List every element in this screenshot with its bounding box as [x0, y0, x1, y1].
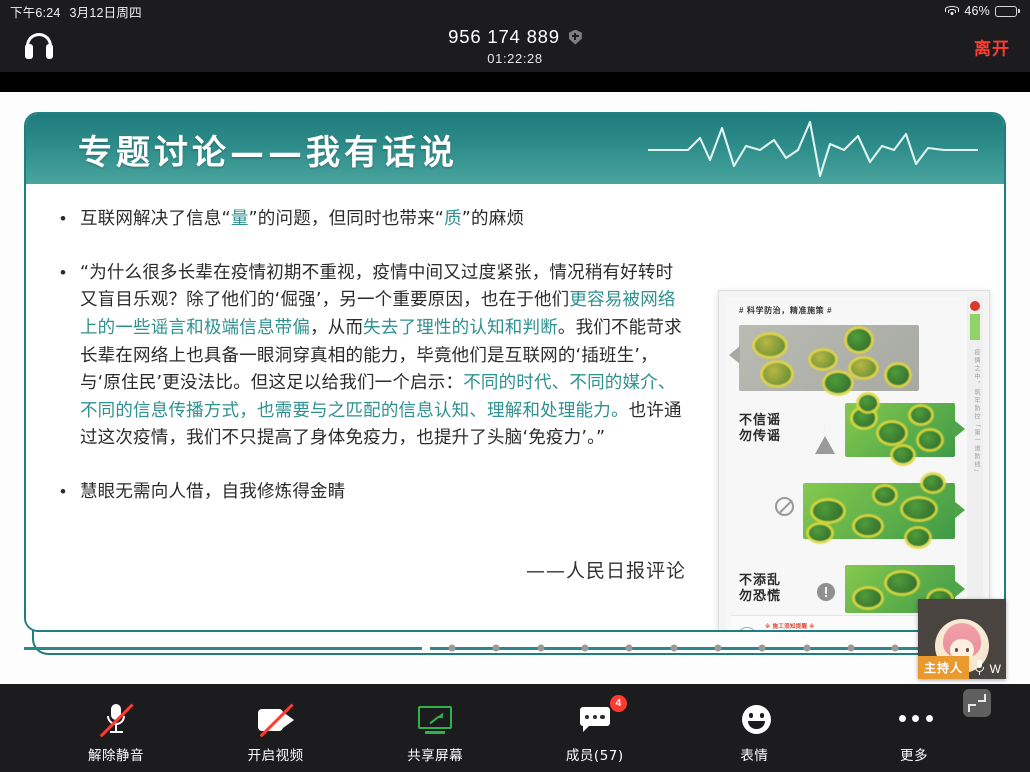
smiley-icon [731, 703, 777, 737]
poster-status-bar [970, 314, 980, 340]
poster-sidebar-text: 疫情之中，筑牢防控「第一道防线」 [969, 349, 981, 477]
status-time: 下午6:24 [10, 2, 61, 21]
slide-body: • 互联网解决了信息“量”的问题，但同时也带来“质”的麻烦 • “为什么很多长辈… [26, 184, 1006, 632]
status-bar-right: 46% [944, 4, 1020, 18]
participants-badge: 4 [610, 695, 627, 712]
text-segment-2: ，从而 [310, 318, 363, 338]
battery-percent-label: 46% [964, 4, 990, 18]
slide-progress-dot[interactable] [582, 645, 589, 652]
more-dots-icon [891, 703, 937, 737]
slide-progress-strip[interactable] [24, 640, 1006, 656]
poster-footer-title: ※ 施工须知提醒 ※ [765, 622, 815, 630]
reactions-button[interactable]: 表情 [694, 693, 814, 764]
poster-image: # 科学防治，精准施策 # 疫情之中，筑牢防控「第一道防线」 [718, 290, 990, 632]
status-bar-left: 下午6:24 3月12日周四 [10, 2, 142, 21]
meeting-id: 956 174 889 [448, 26, 560, 48]
share-screen-label: 共享屏幕 [407, 744, 463, 764]
slide-title-bar: 专题讨论——我有话说 [26, 114, 1006, 184]
slide-progress-dot[interactable] [847, 645, 854, 652]
poster-hashtag: # 科学防治，精准施策 # [739, 305, 832, 316]
host-badge: 主持人 [918, 656, 969, 679]
slide-frame: 专题讨论——我有话说 • 互联网解决了信息“量”的问题，但同时也带来“质”的麻烦… [24, 112, 1006, 632]
reactions-label: 表情 [740, 744, 768, 764]
share-screen-icon [412, 703, 458, 737]
slide-attribution: ——人民日报评论 [26, 556, 686, 583]
slide-bullets: • 互联网解决了信息“量”的问题，但同时也带来“质”的麻烦 • “为什么很多长辈… [60, 206, 690, 533]
wifi-icon [944, 5, 959, 17]
slide-progress-dot[interactable] [892, 645, 899, 652]
participants-label: 成员(57) [566, 744, 624, 764]
slide-title: 专题讨论——我有话说 [78, 125, 458, 174]
poster-alert-dot [970, 301, 980, 311]
camera-off-icon [253, 703, 299, 737]
self-video-thumbnail[interactable]: 主持人 W [918, 599, 1006, 679]
list-item: • 慧眼无需向人借，自我修炼得金睛 [60, 479, 690, 507]
bullet-text-2: “为什么很多长辈在疫情初期不重视，疫情中间又过度紧张，情况稍有好转时又盲目乐观？… [80, 260, 690, 453]
text-segment-1: 量 [231, 209, 249, 229]
poster-card-2 [845, 403, 955, 457]
battery-icon [995, 6, 1020, 17]
slide-progress-dot[interactable] [626, 645, 633, 652]
speaker-icon [737, 627, 757, 632]
slide-progress-lead [24, 647, 422, 650]
bullet-text-3: 慧眼无需向人借，自我修炼得金睛 [80, 479, 346, 507]
exclamation-circle-icon [817, 583, 835, 601]
text-segment-4: ”的麻烦 [462, 209, 524, 229]
status-bar: 下午6:24 3月12日周四 46% [0, 0, 1030, 22]
meeting-id-row[interactable]: 956 174 889 [448, 26, 582, 48]
poster-card-3 [803, 483, 955, 539]
poster-label-3: 不添乱 勿恐慌 [739, 573, 781, 606]
text-segment-0: 慧眼无需向人借，自我修炼得金睛 [80, 482, 346, 502]
unmute-button[interactable]: 解除静音 [56, 693, 176, 764]
start-video-label: 开启视频 [248, 744, 304, 764]
poster-label-1-line1: 不信谣 [739, 413, 781, 428]
text-segment-3: 质 [444, 209, 462, 229]
mic-muted-icon [93, 703, 139, 737]
list-item: • “为什么很多长辈在疫情初期不重视，疫情中间又过度紧张，情况稍有好转时又盲目乐… [60, 260, 690, 453]
meeting-header: 956 174 889 01:22:28 离开 [0, 22, 1030, 72]
participants-button[interactable]: 4 成员(57) [535, 693, 655, 764]
slide-progress-dot[interactable] [803, 645, 810, 652]
shield-icon[interactable] [569, 30, 582, 45]
prohibition-icon [775, 497, 794, 516]
bullet-marker: • [60, 206, 66, 234]
bullet-marker: • [60, 479, 66, 507]
bullet-marker: • [60, 260, 66, 453]
unmute-label: 解除静音 [88, 744, 144, 764]
participant-name: W [990, 662, 1001, 676]
status-date: 3月12日周四 [70, 2, 142, 21]
poster-label-1-line2: 勿传谣 [739, 429, 781, 444]
warning-triangle-icon [815, 419, 835, 437]
more-button[interactable]: 更多 [854, 693, 974, 764]
bottom-toolbar: 解除静音 开启视频 共享屏幕 [0, 684, 1030, 772]
meeting-info: 956 174 889 01:22:28 [0, 26, 1030, 66]
toolbar-items: 解除静音 开启视频 共享屏幕 [0, 693, 1030, 764]
bullet-text-1: 互联网解决了信息“量”的问题，但同时也带来“质”的麻烦 [80, 206, 524, 234]
text-segment-3: 失去了理性的认知和判断 [363, 318, 558, 338]
slide-progress-dot[interactable] [715, 645, 722, 652]
slide-progress-dot[interactable] [759, 645, 766, 652]
start-video-button[interactable]: 开启视频 [216, 693, 336, 764]
poster-label-3-line2: 勿恐慌 [739, 589, 781, 604]
meeting-timer: 01:22:28 [0, 51, 1030, 66]
more-label: 更多 [900, 744, 928, 764]
slide-progress-dot[interactable] [670, 645, 677, 652]
leave-button[interactable]: 离开 [974, 35, 1010, 60]
slide-wrapper: 专题讨论——我有话说 • 互联网解决了信息“量”的问题，但同时也带来“质”的麻烦… [24, 112, 1006, 657]
poster-inner: # 科学防治，精准施策 # 疫情之中，筑牢防控「第一道防线」 [725, 297, 983, 632]
text-segment-2: ”的问题，但同时也带来“ [249, 209, 445, 229]
poster-sidebar: 疫情之中，筑牢防控「第一道防线」 [967, 297, 983, 632]
collapse-corners-icon[interactable] [963, 689, 991, 717]
share-screen-button[interactable]: 共享屏幕 [375, 693, 495, 764]
slide-progress-dot[interactable] [493, 645, 500, 652]
heartbeat-line-icon [648, 120, 978, 178]
poster-label-3-line1: 不添乱 [739, 573, 781, 588]
slide-progress-dot[interactable] [537, 645, 544, 652]
poster-card-1 [739, 325, 919, 391]
shared-screen-stage[interactable]: 专题讨论——我有话说 • 互联网解决了信息“量”的问题，但同时也带来“质”的麻烦… [0, 92, 1030, 684]
slide-progress-dot[interactable] [449, 645, 456, 652]
text-segment-0: 互联网解决了信息“ [80, 209, 231, 229]
microphone-icon [975, 660, 984, 675]
poster-label-1: 不信谣 勿传谣 [739, 413, 781, 446]
meeting-app: 下午6:24 3月12日周四 46% 956 174 889 01:22:28 … [0, 0, 1030, 772]
list-item: • 互联网解决了信息“量”的问题，但同时也带来“质”的麻烦 [60, 206, 690, 234]
